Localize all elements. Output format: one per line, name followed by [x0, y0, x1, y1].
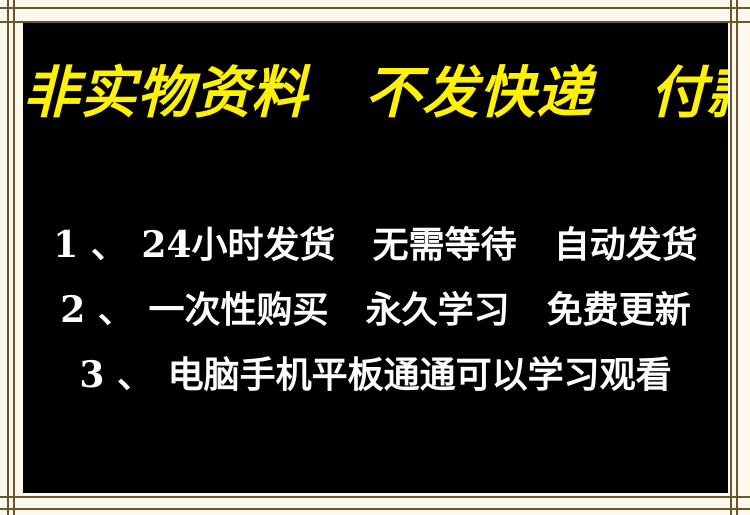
- list-item-phrase: 自动发货: [554, 213, 698, 278]
- list-item-mark: 、: [117, 354, 155, 396]
- list-item-phrase: 无需等待: [373, 213, 517, 278]
- benefit-list: 1 、 24小时发货 无需等待 自动发货 2 、 一次性购买 永久学习 免费更新…: [23, 213, 728, 408]
- frame-line-right-inner: [730, 0, 732, 515]
- list-item: 2 、 一次性购买 永久学习 免费更新: [23, 278, 728, 343]
- headline-segment-1: 非实物资料: [23, 65, 308, 121]
- list-item-phrase: 一次性购买: [148, 278, 328, 343]
- list-item-phrase: 电脑手机平板通通可以学习观看: [168, 343, 672, 408]
- list-item-phrase: 永久学习: [366, 278, 510, 343]
- frame-line-left-outer: [7, 0, 9, 515]
- list-item-mark: 、: [91, 224, 129, 266]
- poster-canvas: 非实物资料 不发快递 付款即看 1 、 24小时发货 无需等待 自动发货 2 、…: [0, 0, 750, 515]
- frame-line-bottom-outer: [0, 508, 750, 510]
- list-item-number: 3: [79, 354, 104, 396]
- headline-segment-3: 付款即看: [650, 65, 728, 121]
- frame-line-right-outer: [736, 0, 738, 515]
- list-item-number: 2: [60, 289, 85, 331]
- list-item-number: 1: [53, 224, 78, 266]
- list-item: 1 、 24小时发货 无需等待 自动发货: [23, 213, 728, 278]
- headline-segment-2: 不发快递: [365, 65, 593, 121]
- frame-line-left-inner: [13, 0, 15, 515]
- list-item-phrase: 免费更新: [547, 278, 691, 343]
- content-panel: 非实物资料 不发快递 付款即看 1 、 24小时发货 无需等待 自动发货 2 、…: [23, 23, 728, 493]
- frame-line-bottom-inner: [0, 496, 750, 498]
- list-item-mark: 、: [98, 289, 136, 331]
- list-item-phrase: 24小时发货: [141, 213, 335, 278]
- frame-line-top-outer: [0, 7, 750, 9]
- list-item: 3 、 电脑手机平板通通可以学习观看: [23, 343, 728, 408]
- headline: 非实物资料 不发快递 付款即看: [23, 65, 728, 121]
